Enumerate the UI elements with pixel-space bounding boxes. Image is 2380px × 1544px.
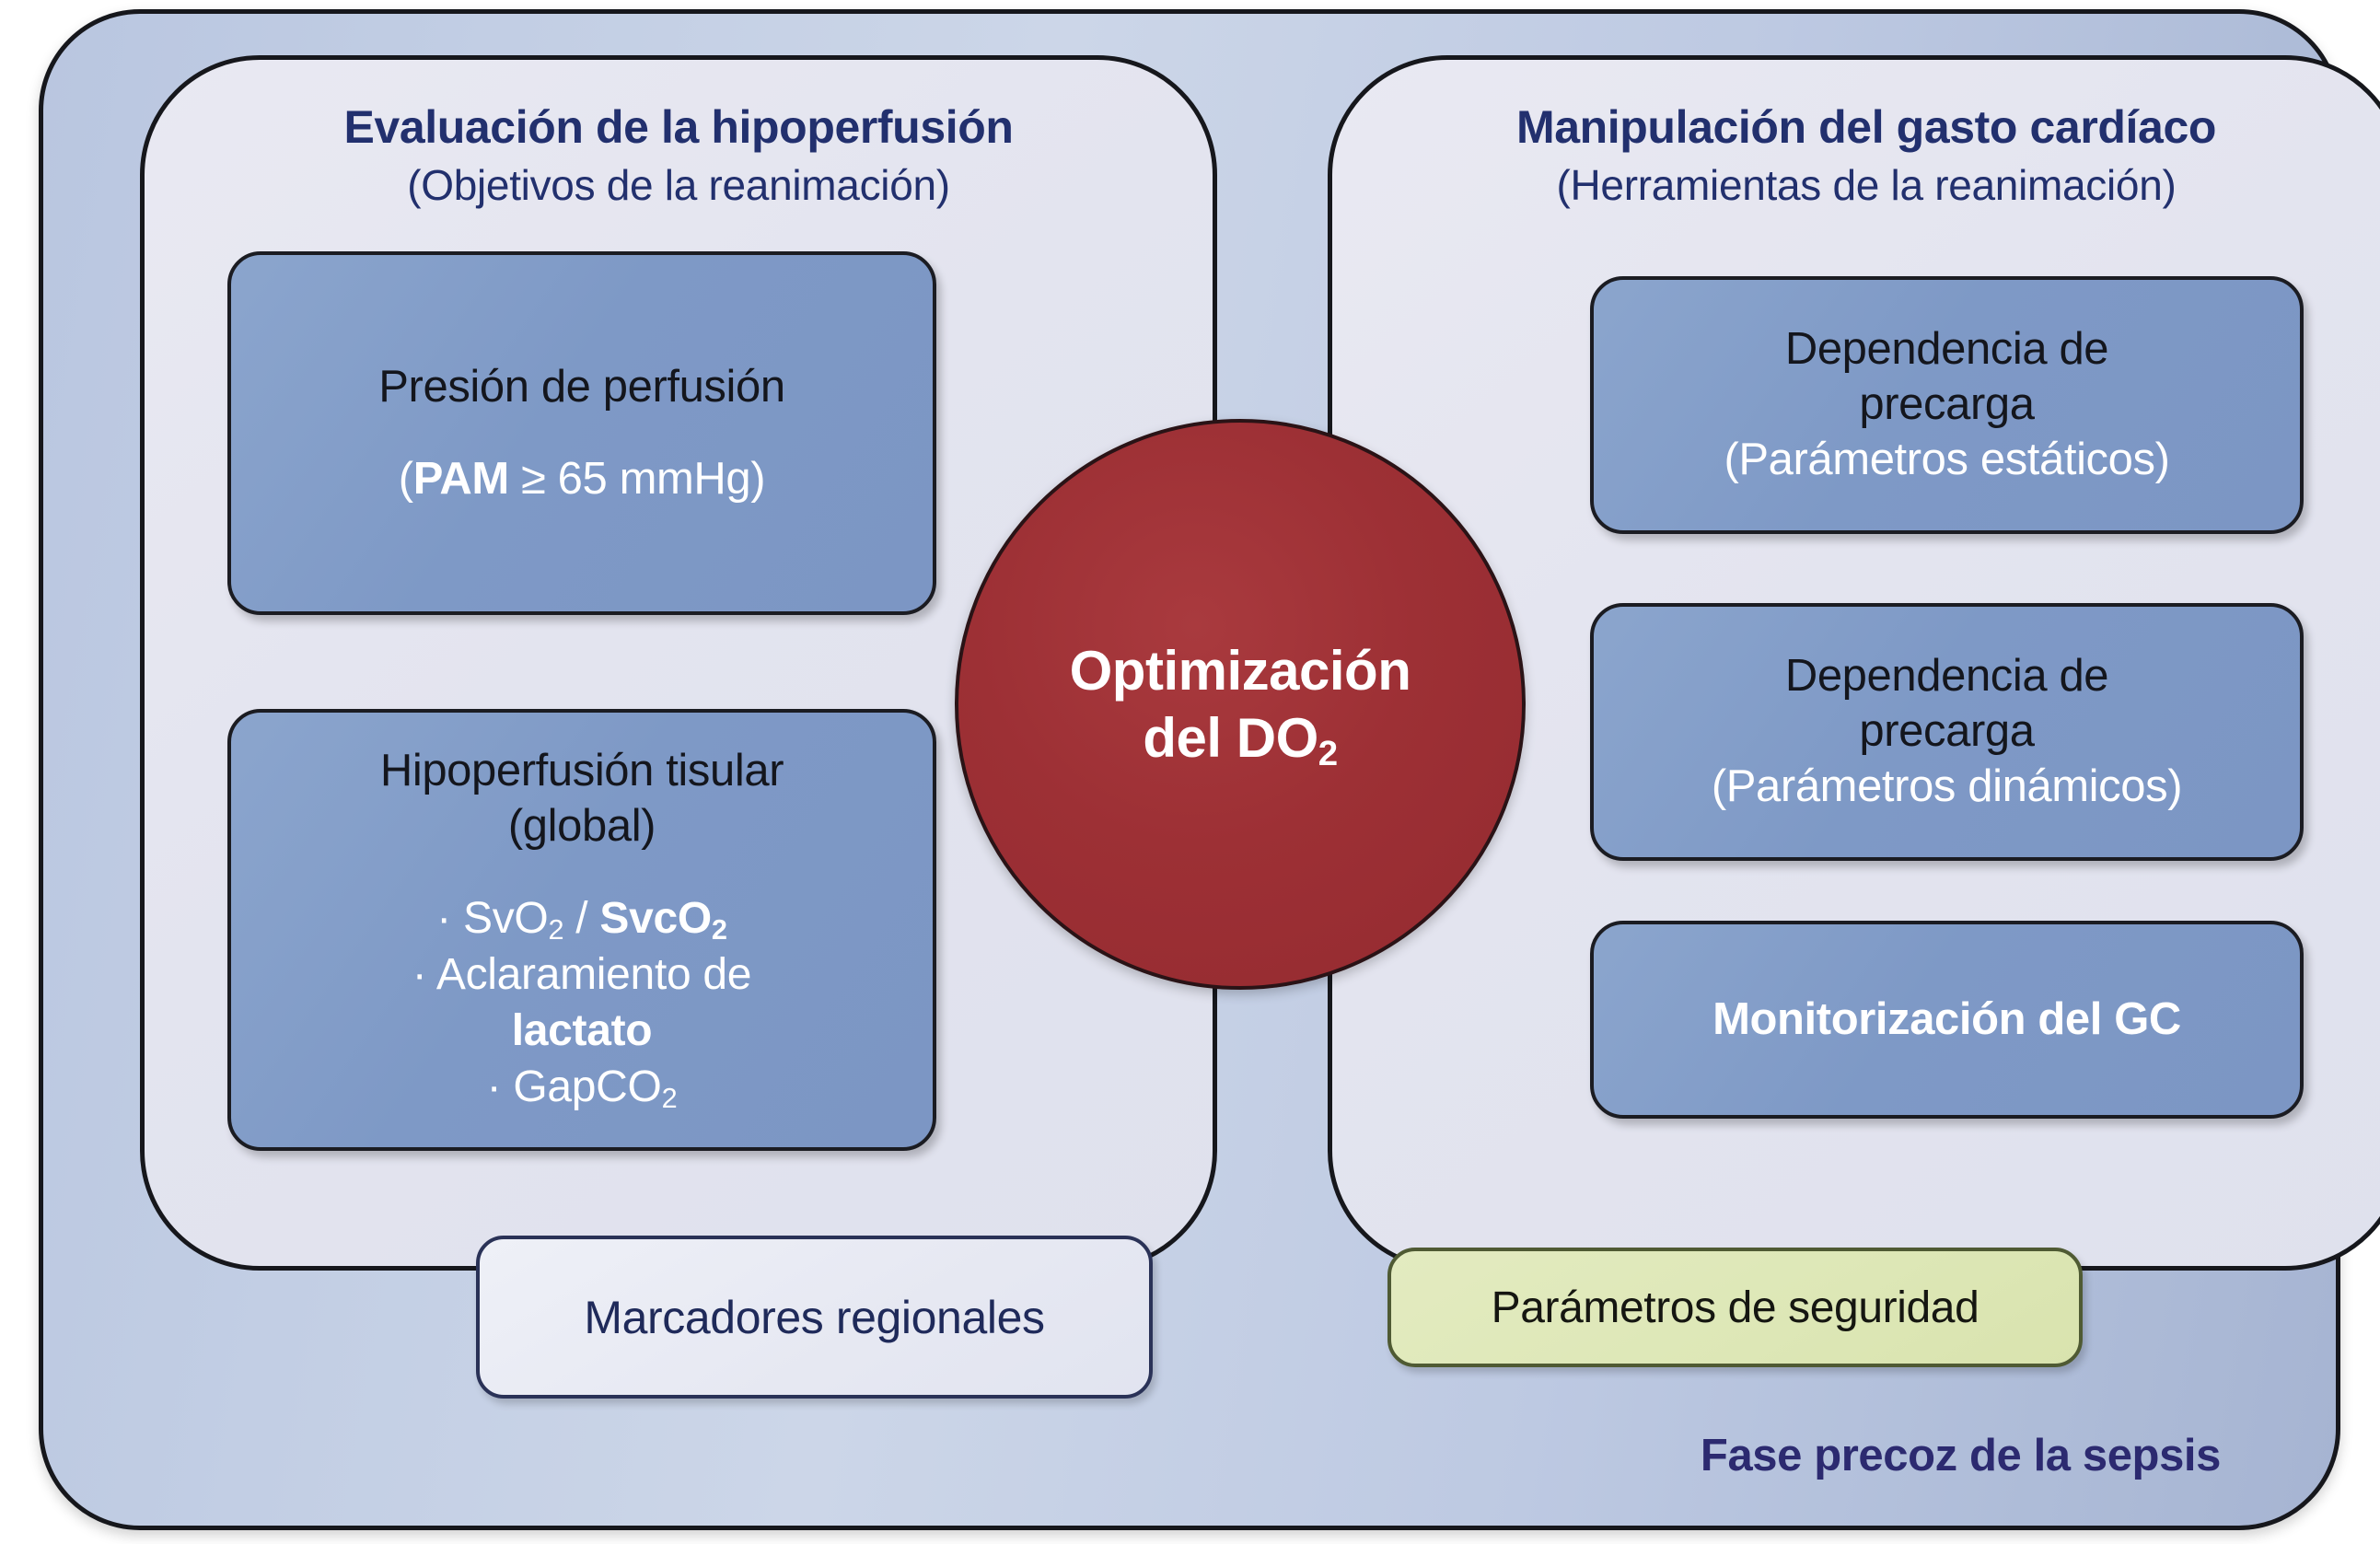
estatico-line2: precarga — [1859, 377, 2034, 433]
paren-open: ( — [399, 454, 413, 504]
estatico-line1: Dependencia de — [1785, 322, 2108, 377]
gc-label: Monitorización del GC — [1712, 993, 2181, 1048]
hipo-bullet-lactato-line1: · Aclaramiento de — [412, 947, 751, 1004]
dinamico-line2: precarga — [1859, 704, 2034, 760]
box-dependencia-precarga-estaticos[interactable]: Dependencia de precarga (Parámetros está… — [1590, 276, 2304, 534]
hipo-title-line2: (global) — [508, 799, 656, 854]
estatico-parameters: (Parámetros estáticos) — [1724, 433, 2169, 488]
do2-subscript: 2 — [1318, 734, 1338, 773]
pam-threshold: ≥ 65 mmHg) — [509, 454, 765, 504]
pill-parametros-de-seguridad[interactable]: Parámetros de seguridad — [1387, 1248, 2083, 1367]
outer-frame: Evaluación de la hipoperfusión (Objetivo… — [39, 9, 2340, 1530]
svo2-label: · SvO — [436, 894, 548, 943]
box-presion-de-perfusion[interactable]: Presión de perfusión (PAM ≥ 65 mmHg) — [227, 251, 936, 615]
dinamico-line1: Dependencia de — [1785, 649, 2108, 704]
box-hipoperfusion-tisular[interactable]: Hipoperfusión tisular (global) · SvO2 / … — [227, 709, 936, 1151]
pill-seguridad-label: Parámetros de seguridad — [1492, 1283, 1979, 1333]
center-line-1: Optimización — [1070, 640, 1411, 702]
hipo-bullet-svo2: · SvO2 / SvcO2 — [436, 891, 726, 947]
center-line-2: del DO — [1143, 707, 1318, 769]
center-node-label: Optimización del DO2 — [1070, 637, 1411, 772]
svco2-subscript: 2 — [712, 913, 727, 946]
svco2-label: SvcO — [599, 894, 712, 943]
diagram-canvas: Evaluación de la hipoperfusión (Objetivo… — [0, 0, 2380, 1544]
pam-abbrev: PAM — [413, 454, 509, 504]
slash: / — [563, 894, 599, 943]
hipo-bullet-gapco2: · GapCO2 — [487, 1060, 678, 1116]
box-dependencia-precarga-dinamicos[interactable]: Dependencia de precarga (Parámetros diná… — [1590, 603, 2304, 861]
pill-marcadores-label: Marcadores regionales — [584, 1291, 1044, 1344]
presion-title: Presión de perfusión — [378, 360, 784, 415]
lactato-label: lactato — [512, 1006, 653, 1055]
svo2-subscript: 2 — [548, 913, 563, 946]
hipo-bullet-lactato-line2: lactato — [512, 1004, 653, 1060]
box-monitorizacion-gc[interactable]: Monitorización del GC — [1590, 921, 2304, 1119]
dinamico-parameters: (Parámetros dinámicos) — [1712, 760, 2182, 815]
pill-marcadores-regionales[interactable]: Marcadores regionales — [476, 1236, 1153, 1399]
gapco2-subscript: 2 — [662, 1082, 678, 1114]
center-node-optimizacion-do2[interactable]: Optimización del DO2 — [955, 419, 1526, 990]
hipo-title-line1: Hipoperfusión tisular — [380, 744, 784, 799]
gapco2-label: · GapCO — [487, 1062, 662, 1111]
presion-pam-value: (PAM ≥ 65 mmHg) — [399, 452, 765, 507]
footer-caption: Fase precoz de la sepsis — [1701, 1430, 2221, 1481]
